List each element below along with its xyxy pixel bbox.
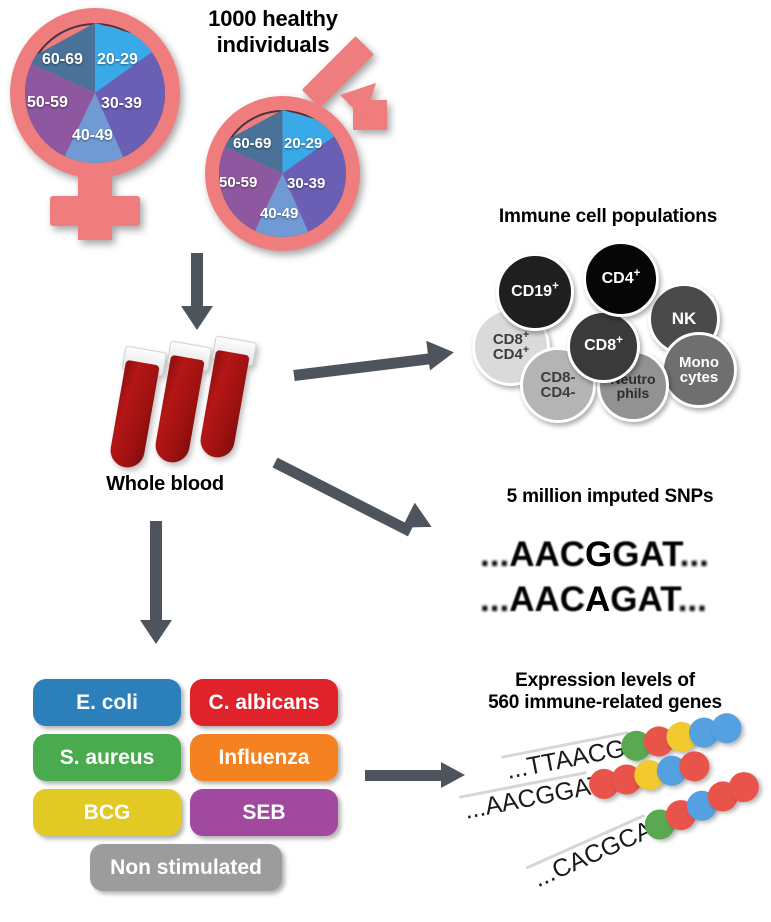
age-pie-female: 20-29 30-39 40-49 50-59 60-69 xyxy=(25,23,165,163)
immune-cell-monocytes[interactable]: Monocytes xyxy=(661,332,737,408)
snp-sequence-row: ...AACGGAT... xyxy=(480,535,709,575)
pie-label-40-49: 40-49 xyxy=(260,205,298,222)
pie-label-40-49: 40-49 xyxy=(72,127,113,145)
snp-prefix-dots: ... xyxy=(480,580,509,619)
immune-cell-neutrophils[interactable]: Neutrophils xyxy=(597,350,669,422)
pie-label-20-29: 20-29 xyxy=(97,51,138,69)
snp-right-bases: GAT xyxy=(610,580,677,619)
pie-label-60-69: 60-69 xyxy=(233,135,271,152)
pie-label-60-69: 60-69 xyxy=(42,51,83,69)
pie-label-50-59: 50-59 xyxy=(27,94,68,112)
snp-left-bases: AAC xyxy=(509,580,585,619)
pie-label-50-59: 50-59 xyxy=(219,174,257,191)
age-pie-male: 20-29 30-39 40-49 50-59 60-69 xyxy=(219,110,346,237)
female-symbol-crossbar xyxy=(50,196,140,226)
immune-cell-cd8-cd4-[interactable]: CD8-CD4- xyxy=(520,347,596,423)
pie-label-30-39: 30-39 xyxy=(101,95,142,113)
section-title-snps: 5 million imputed SNPs xyxy=(450,486,770,508)
stimulation-chip-c-albicans[interactable]: C. albicans xyxy=(190,679,338,726)
male-gender-icon: 20-29 30-39 40-49 50-59 60-69 xyxy=(205,78,410,253)
immune-cell-cd4p[interactable]: CD4+ xyxy=(583,241,659,317)
snp-left-bases: AAC xyxy=(509,535,585,574)
pie-label-20-29: 20-29 xyxy=(284,135,322,152)
section-title-expression: Expression levels of560 immune-related g… xyxy=(440,670,770,715)
snp-sequence-row: ...AACAGAT... xyxy=(480,580,707,620)
immune-cell-nk[interactable]: NK xyxy=(648,283,720,355)
section-title-immune: Immune cell populations xyxy=(448,206,768,228)
snp-prefix-dots: ... xyxy=(480,535,509,574)
stimulation-chip-e-coli[interactable]: E. coli xyxy=(33,679,181,726)
snp-suffix-dots: ... xyxy=(678,580,707,619)
stimulation-chip-bcg[interactable]: BCG xyxy=(33,789,181,836)
stimulation-panel: E. coli C. albicans S. aureus Influenza … xyxy=(33,679,343,894)
snp-variant-base: A xyxy=(585,580,610,619)
stimulation-chip-seb[interactable]: SEB xyxy=(190,789,338,836)
tube-blood xyxy=(108,360,160,470)
immune-cell-cd19p[interactable]: CD19+ xyxy=(496,253,574,331)
immune-cell-cd8p[interactable]: CD8+ xyxy=(567,310,640,383)
immune-cell-cd8p-cd4p[interactable]: CD8+CD4+ xyxy=(472,308,550,386)
pie-label-30-39: 30-39 xyxy=(287,175,325,192)
snp-suffix-dots: ... xyxy=(680,535,709,574)
stimulation-chip-s-aureus[interactable]: S. aureus xyxy=(33,734,181,781)
whole-blood-tubes xyxy=(118,338,258,473)
whole-blood-label: Whole blood xyxy=(60,473,270,497)
stimulation-chip-non-stimulated[interactable]: Non stimulated xyxy=(90,844,282,891)
female-gender-icon: 20-29 30-39 40-49 50-59 60-69 xyxy=(10,8,190,240)
snp-right-bases: GAT xyxy=(612,535,679,574)
snp-variant-base: G xyxy=(585,535,612,574)
stimulation-chip-influenza[interactable]: Influenza xyxy=(190,734,338,781)
